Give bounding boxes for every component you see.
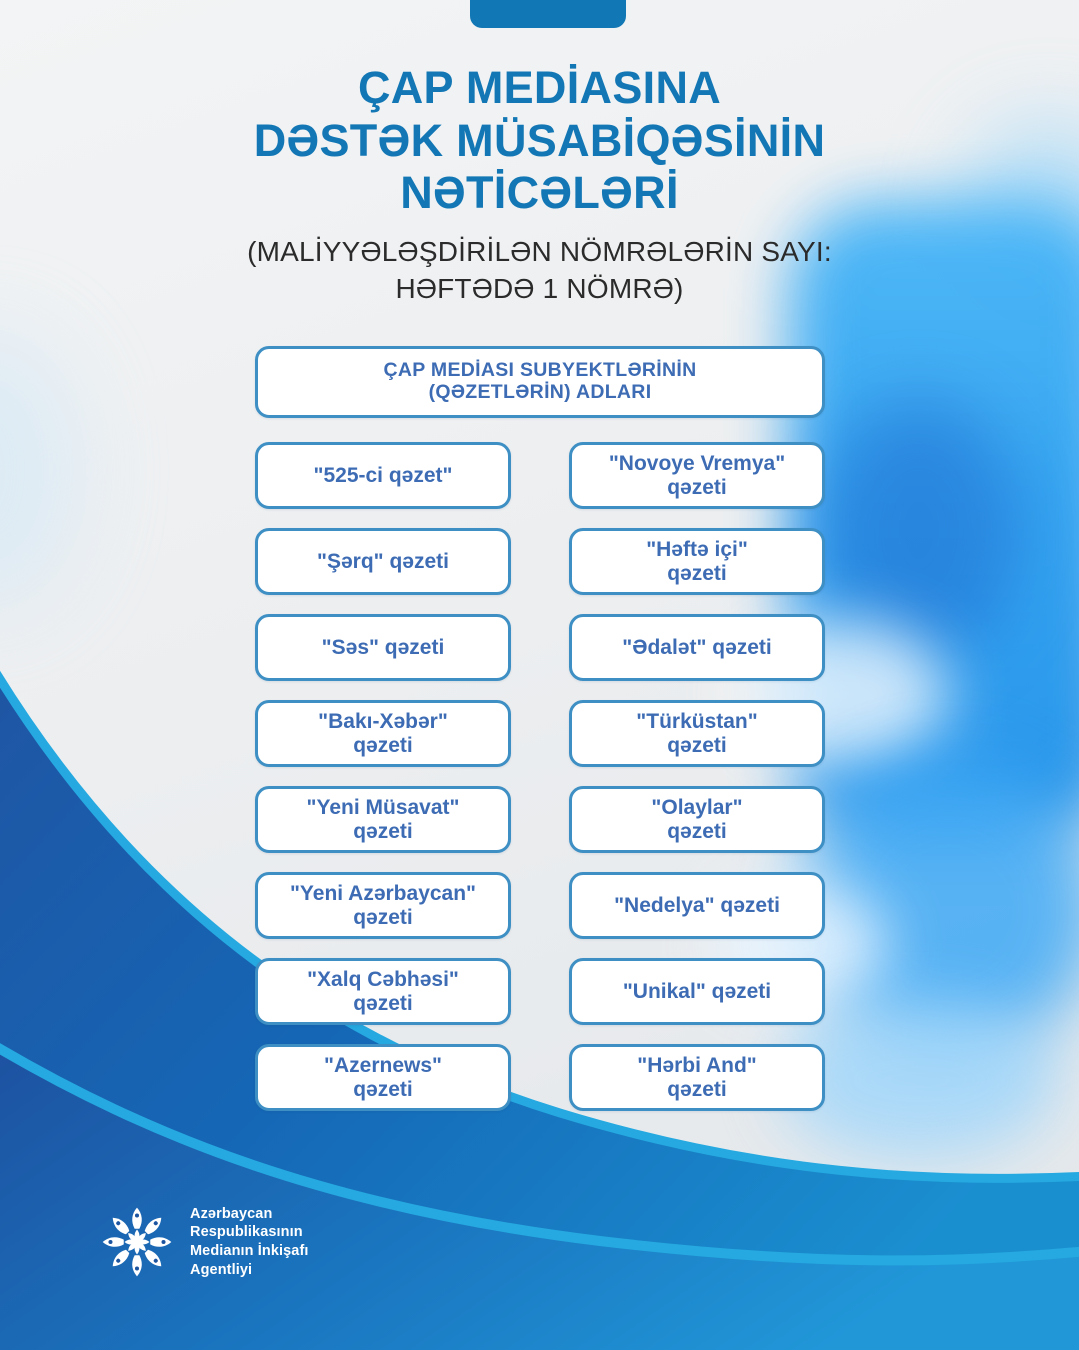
newspaper-box[interactable]: "Səs" qəzeti [255, 614, 511, 681]
newspaper-name-line: "Hərbi And" [637, 1054, 756, 1078]
newspaper-name-line: qəzeti [637, 1078, 756, 1102]
newspaper-name-line: qəzeti [636, 734, 757, 758]
agency-name-line: Agentliyi [190, 1261, 309, 1280]
list-header-box: ÇAP MEDİASI SUBYEKTLƏRİNİN (QƏZETLƏRİN) … [255, 346, 825, 418]
newspaper-name-line: qəzeti [609, 476, 785, 500]
newspaper-name-line: "Unikal" qəzeti [623, 980, 771, 1004]
list-header-line: ÇAP MEDİASI SUBYEKTLƏRİNİN [383, 360, 696, 382]
page-subtitle: (MALİYYƏLƏŞDİRİLƏN NÖMRƏLƏRİN SAYI: HƏFT… [0, 234, 1079, 308]
newspaper-name-line: "525-ci qəzet" [314, 464, 453, 488]
agency-logo-text: Azərbaycan Respublikasının Medianın İnki… [190, 1205, 309, 1279]
agency-logo: Azərbaycan Respublikasının Medianın İnki… [98, 1196, 309, 1288]
newspaper-box[interactable]: "Şərq" qəzeti [255, 528, 511, 595]
poster-header: ÇAP MEDİASINA DƏSTƏK MÜSABİQƏSİNİN NƏTİC… [0, 0, 1079, 308]
newspaper-box[interactable]: "Türküstan" qəzeti [569, 700, 825, 767]
newspaper-box[interactable]: "Xalq Cəbhəsi" qəzeti [255, 958, 511, 1025]
newspaper-box[interactable]: "Azernews" qəzeti [255, 1044, 511, 1111]
eight-pointed-star-icon [98, 1196, 176, 1288]
newspaper-box[interactable]: "Unikal" qəzeti [569, 958, 825, 1025]
newspaper-box[interactable]: "Yeni Azərbaycan" qəzeti [255, 872, 511, 939]
newspaper-name-line: "Yeni Azərbaycan" [290, 882, 476, 906]
newspaper-name-line: "Xalq Cəbhəsi" [307, 968, 459, 992]
newspaper-box[interactable]: "Həftə içi" qəzeti [569, 528, 825, 595]
newspaper-box[interactable]: "Bakı-Xəbər" qəzeti [255, 700, 511, 767]
newspaper-box[interactable]: "Hərbi And" qəzeti [569, 1044, 825, 1111]
newspaper-name-line: qəzeti [324, 1078, 442, 1102]
list-header-line: (QƏZETLƏRİN) ADLARI [383, 382, 696, 404]
newspaper-box[interactable]: "Yeni Müsavat" qəzeti [255, 786, 511, 853]
agency-name-line: Azərbaycan [190, 1205, 309, 1224]
newspaper-name-line: "Həftə içi" [646, 538, 748, 562]
page-title: ÇAP MEDİASINA DƏSTƏK MÜSABİQƏSİNİN NƏTİC… [0, 0, 1079, 220]
newspaper-name-line: "Azernews" [324, 1054, 442, 1078]
newspaper-name-line: "Olaylar" [651, 796, 742, 820]
subtitle-line: HƏFTƏDƏ 1 NÖMRƏ) [0, 271, 1079, 308]
newspaper-name-line: "Bakı-Xəbər" [318, 710, 448, 734]
newspaper-box[interactable]: "Olaylar" qəzeti [569, 786, 825, 853]
title-line: DƏSTƏK MÜSABİQƏSİNİN [0, 115, 1079, 168]
newspaper-name-line: "Səs" qəzeti [322, 636, 445, 660]
newspaper-box[interactable]: "Ədalət" qəzeti [569, 614, 825, 681]
newspaper-name-line: qəzeti [290, 906, 476, 930]
newspaper-list: ÇAP MEDİASI SUBYEKTLƏRİNİN (QƏZETLƏRİN) … [255, 346, 825, 1111]
newspaper-box[interactable]: "Novoye Vremya" qəzeti [569, 442, 825, 509]
newspaper-name-line: "Ədalət" qəzeti [622, 636, 772, 660]
newspaper-name-line: qəzeti [651, 820, 742, 844]
newspaper-name-line: "Türküstan" [636, 710, 757, 734]
newspaper-name-line: "Şərq" qəzeti [317, 550, 449, 574]
newspaper-name-line: "Yeni Müsavat" [307, 796, 460, 820]
newspaper-name-line: "Novoye Vremya" [609, 452, 785, 476]
newspaper-name-line: "Nedelya" qəzeti [614, 894, 780, 918]
subtitle-line: (MALİYYƏLƏŞDİRİLƏN NÖMRƏLƏRİN SAYI: [0, 234, 1079, 271]
newspaper-name-line: qəzeti [307, 992, 459, 1016]
newspaper-box[interactable]: "Nedelya" qəzeti [569, 872, 825, 939]
agency-name-line: Respublikasının [190, 1223, 309, 1242]
agency-name-line: Medianın İnkişafı [190, 1242, 309, 1261]
newspaper-name-line: qəzeti [646, 562, 748, 586]
newspaper-grid: "525-ci qəzet" "Novoye Vremya" qəzeti "Ş… [255, 442, 825, 1111]
infographic-poster: ÇAP MEDİASINA DƏSTƏK MÜSABİQƏSİNİN NƏTİC… [0, 0, 1079, 1350]
newspaper-name-line: qəzeti [318, 734, 448, 758]
newspaper-name-line: qəzeti [307, 820, 460, 844]
title-line: ÇAP MEDİASINA [0, 62, 1079, 115]
title-line: NƏTİCƏLƏRİ [0, 167, 1079, 220]
newspaper-box[interactable]: "525-ci qəzet" [255, 442, 511, 509]
